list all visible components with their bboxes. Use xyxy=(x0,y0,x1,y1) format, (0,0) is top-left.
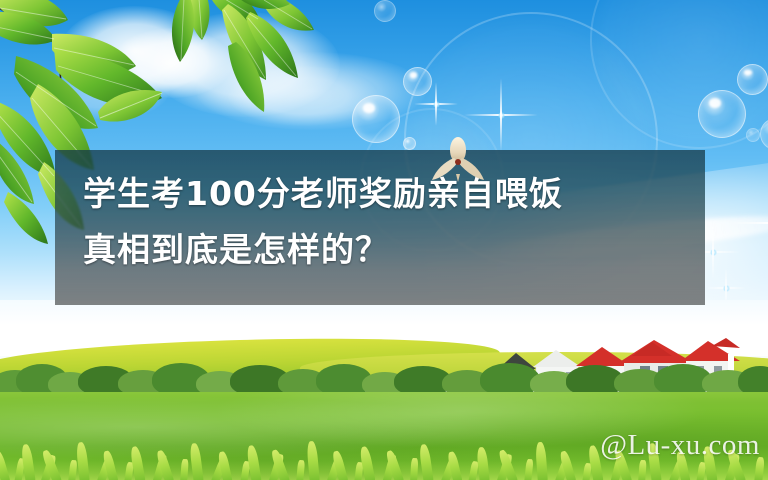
soap-bubble-icon xyxy=(698,90,746,138)
soap-bubble-icon xyxy=(403,67,432,96)
headline-text: 学生考100分老师奖励亲自喂饭 真相到底是怎样的？ xyxy=(83,166,683,278)
flying-bird-icon xyxy=(432,136,484,182)
soap-bubble-icon xyxy=(737,64,768,95)
tree-line xyxy=(0,354,768,396)
article-thumbnail-image: 学生考100分老师奖励亲自喂饭 真相到底是怎样的？ @Lu-xu.com xyxy=(0,0,768,480)
soap-bubble-icon xyxy=(374,0,396,22)
site-watermark: @Lu-xu.com xyxy=(600,429,760,462)
soap-bubble-icon xyxy=(746,128,760,142)
headline-overlay-panel: 学生考100分老师奖励亲自喂饭 真相到底是怎样的？ xyxy=(55,150,705,305)
soap-bubble-icon xyxy=(403,137,416,150)
soap-bubble-icon xyxy=(352,95,400,143)
floating-leaf-icon xyxy=(96,86,166,126)
leaf-cluster-icon xyxy=(116,0,326,162)
